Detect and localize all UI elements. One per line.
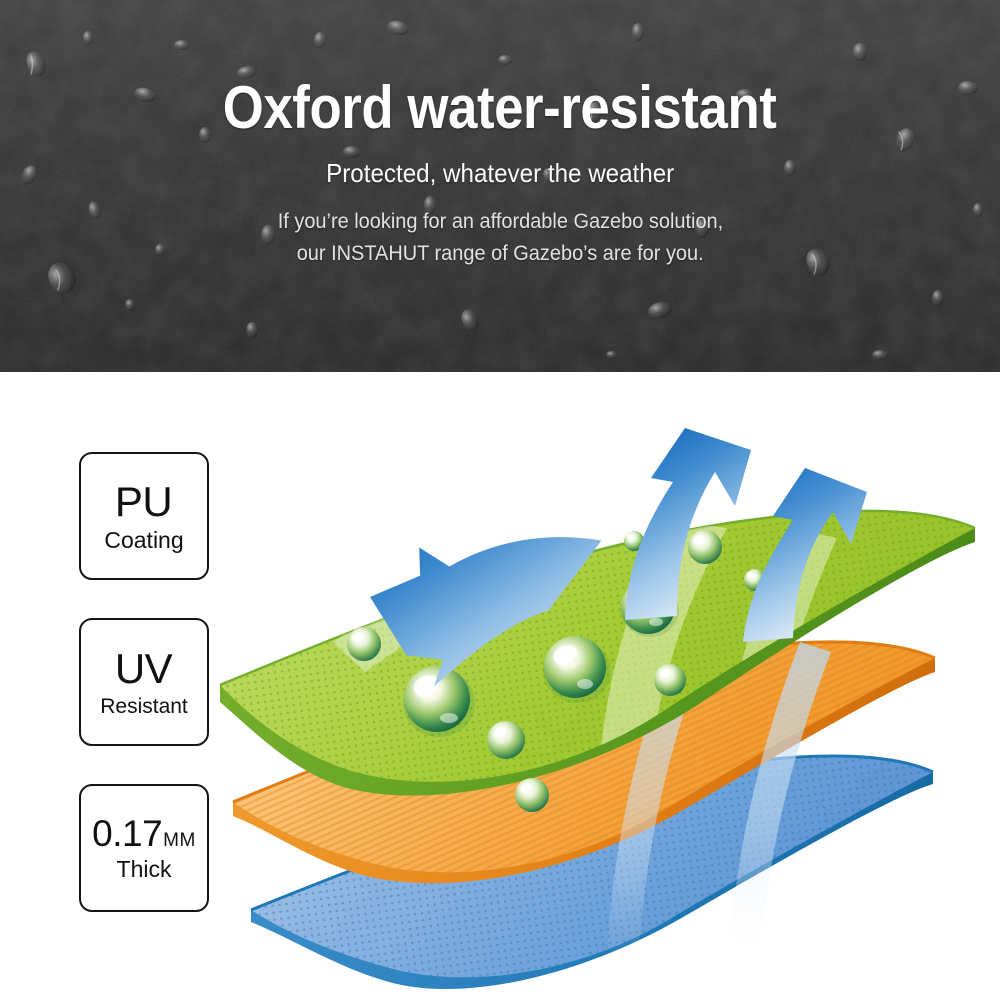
feature-badge-value: PU xyxy=(115,481,173,523)
page-title: Oxford water-resistant xyxy=(223,76,777,139)
feature-badge-main-text: 0.17 xyxy=(92,815,162,852)
water-droplet xyxy=(688,530,722,564)
feature-badge-caption: Resistant xyxy=(100,696,188,717)
water-droplet xyxy=(515,778,549,812)
feature-badge-main-text: UV xyxy=(115,648,172,690)
feature-badge-value: UV xyxy=(115,648,173,690)
hero-banner: Oxford water-resistant Protected, whatev… xyxy=(0,0,1000,372)
feature-badge-uv-resistant: UV Resistant xyxy=(79,618,209,746)
hero-text-block: Oxford water-resistant Protected, whatev… xyxy=(0,0,1000,372)
hero-subtitle: Protected, whatever the weather xyxy=(326,158,674,189)
feature-badge-list: PU Coating UV Resistant 0.17 MM Thick xyxy=(79,452,211,950)
feature-badge-unit: MM xyxy=(163,831,196,850)
feature-badge-main-text: PU xyxy=(115,481,172,523)
feature-badge-value: 0.17 MM xyxy=(92,815,196,852)
water-droplet xyxy=(654,664,686,696)
water-droplet xyxy=(487,721,525,759)
feature-badge-thickness: 0.17 MM Thick xyxy=(79,784,209,912)
feature-badge-caption: Thick xyxy=(117,858,172,881)
feature-badge-pu-coating: PU Coating xyxy=(79,452,209,580)
hero-body-line-2: our INSTAHUT range of Gazebo’s are for y… xyxy=(297,239,704,269)
hero-body-line-1: If you’re looking for an affordable Gaze… xyxy=(277,207,722,237)
layered-fabric-illustration xyxy=(215,410,1000,1000)
water-droplet xyxy=(347,627,381,661)
feature-badge-caption: Coating xyxy=(104,529,183,552)
